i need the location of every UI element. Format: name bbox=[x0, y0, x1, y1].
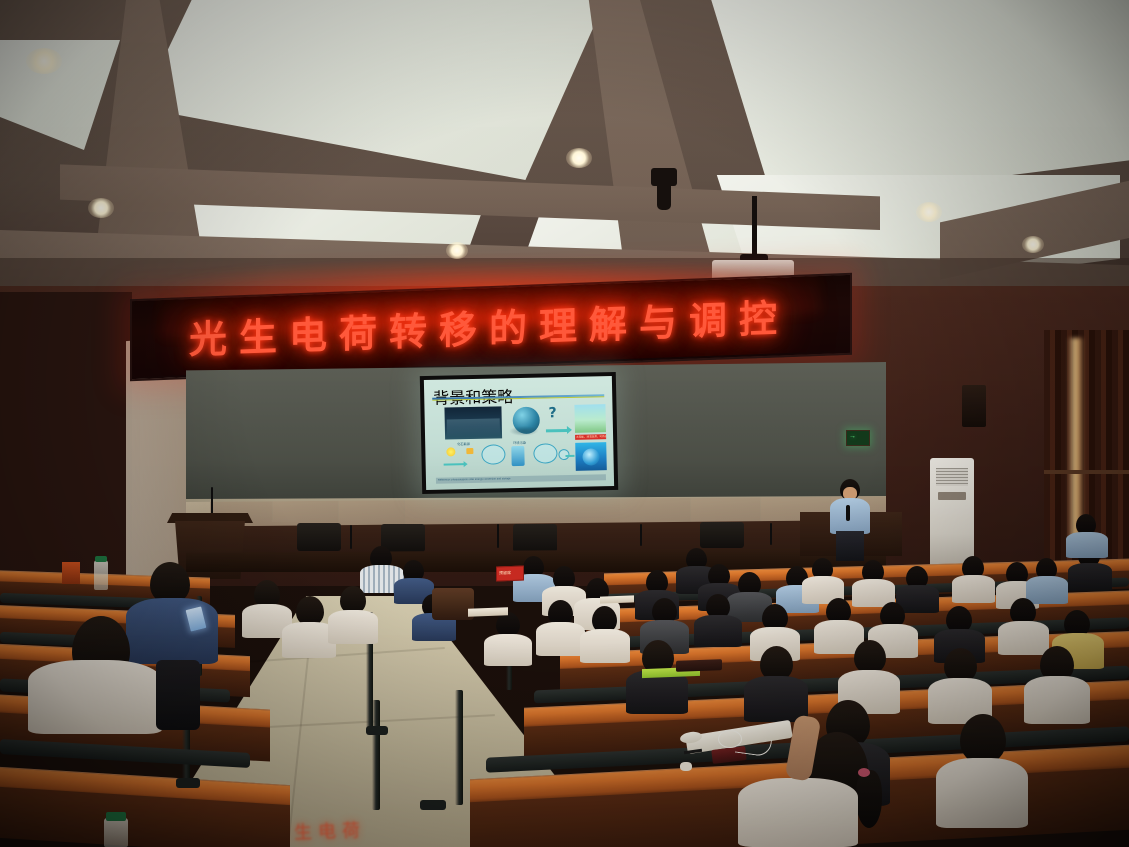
slide-cycle-icon bbox=[533, 443, 557, 463]
projection-screen: 背景和策略 化石能源 环境污染 ? 太阳能、清洁能源、可持续 Reference… bbox=[424, 376, 614, 490]
slide-image-globe-shadow bbox=[509, 426, 539, 437]
foreground-person-body bbox=[28, 660, 162, 734]
seat-foot bbox=[366, 726, 388, 735]
audience-head bbox=[854, 640, 886, 674]
water-bottle bbox=[104, 818, 128, 847]
exit-sign-label: → bbox=[849, 433, 856, 440]
slide-lock-icon bbox=[466, 448, 473, 454]
water-bottle-cap bbox=[95, 556, 107, 562]
audience-body bbox=[952, 575, 995, 603]
audience-body bbox=[936, 758, 1028, 828]
slide-question-mark: ? bbox=[548, 405, 556, 421]
speaker-trousers bbox=[836, 531, 864, 561]
slide-image-fossil-detail bbox=[447, 418, 500, 437]
slide-arrow-to-blue bbox=[565, 455, 574, 457]
audience-body bbox=[998, 621, 1049, 655]
air-conditioner-grille-icon bbox=[936, 468, 968, 486]
table-microphone bbox=[640, 524, 642, 546]
downlight bbox=[916, 202, 942, 222]
reserved-seat-card-text: 预留席 bbox=[499, 570, 511, 576]
foreground-person-body bbox=[126, 598, 218, 664]
seat-post bbox=[372, 700, 380, 810]
water-bottle-cap bbox=[106, 812, 126, 821]
table-microphone bbox=[350, 525, 352, 549]
ceiling-speaker-body bbox=[657, 182, 671, 210]
speaker-torso bbox=[830, 498, 870, 534]
seat-foot bbox=[420, 800, 446, 810]
audience-body bbox=[744, 676, 808, 722]
water-bottle bbox=[94, 560, 108, 590]
slide-label-pollution: 环境污染 bbox=[513, 440, 526, 445]
lecture-hall-photo: 光生电荷转移的理解与调控 背景和策略 化石能源 环境污染 ? 太阳能、清洁能源、… bbox=[0, 0, 1129, 847]
downlight bbox=[1022, 236, 1044, 253]
downlight bbox=[88, 198, 114, 218]
slide-cycle-icon bbox=[481, 444, 505, 464]
stage-chair bbox=[297, 523, 341, 551]
table-microphone bbox=[770, 523, 772, 545]
paper-stack bbox=[600, 595, 634, 603]
audience-body bbox=[580, 629, 630, 663]
slide-arrow-right bbox=[546, 429, 568, 432]
audience-body bbox=[1066, 532, 1108, 558]
exit-sign: → bbox=[846, 430, 870, 446]
audience-body bbox=[694, 615, 742, 647]
left-wall bbox=[0, 292, 132, 592]
slide-arrow-bottom-head bbox=[464, 461, 468, 467]
foreground-person-hairtie bbox=[858, 768, 870, 777]
led-banner-text: 光生电荷转移的理解与调控 bbox=[189, 286, 789, 363]
stage-chair bbox=[700, 522, 744, 548]
projector-mount bbox=[752, 196, 757, 258]
slide-label-fossil: 化石能源 bbox=[457, 441, 470, 446]
tissue bbox=[680, 762, 692, 771]
window-rail bbox=[1044, 470, 1129, 474]
slide-arrow-bottom bbox=[444, 463, 465, 465]
lectern-microphone bbox=[211, 487, 213, 515]
slide-image-green bbox=[574, 404, 606, 433]
seat-post bbox=[455, 690, 463, 805]
slide-arrow-head bbox=[567, 426, 572, 434]
audience-body bbox=[536, 622, 585, 656]
slide-sun-icon bbox=[446, 447, 455, 456]
audience-body bbox=[1024, 676, 1090, 724]
foreground-person-leg bbox=[156, 660, 200, 730]
audience-body bbox=[328, 610, 378, 644]
slide-red-bar-text: 太阳能、清洁能源、可持续 bbox=[576, 435, 606, 440]
paper-stack bbox=[468, 607, 508, 616]
notebook bbox=[676, 659, 722, 672]
table-microphone bbox=[497, 524, 499, 548]
audience-body bbox=[484, 634, 532, 666]
audience-head bbox=[960, 714, 1006, 764]
air-conditioner-panel bbox=[938, 492, 966, 500]
downlight bbox=[566, 148, 592, 168]
downlight bbox=[446, 242, 468, 259]
slide-reactor-icon bbox=[511, 446, 524, 466]
seat-foot bbox=[176, 778, 200, 788]
handheld-microphone bbox=[846, 505, 850, 521]
foreground-person-ponytail bbox=[856, 770, 882, 828]
foreground-person-shoulder bbox=[738, 778, 858, 847]
wall-speaker bbox=[962, 385, 986, 427]
stage-chair bbox=[513, 524, 557, 552]
reserved-seat-card: 预留席 bbox=[496, 566, 524, 582]
audience-body bbox=[1068, 563, 1112, 591]
audience-body bbox=[1026, 576, 1068, 604]
orange-box bbox=[62, 562, 80, 584]
downlight bbox=[26, 48, 62, 74]
